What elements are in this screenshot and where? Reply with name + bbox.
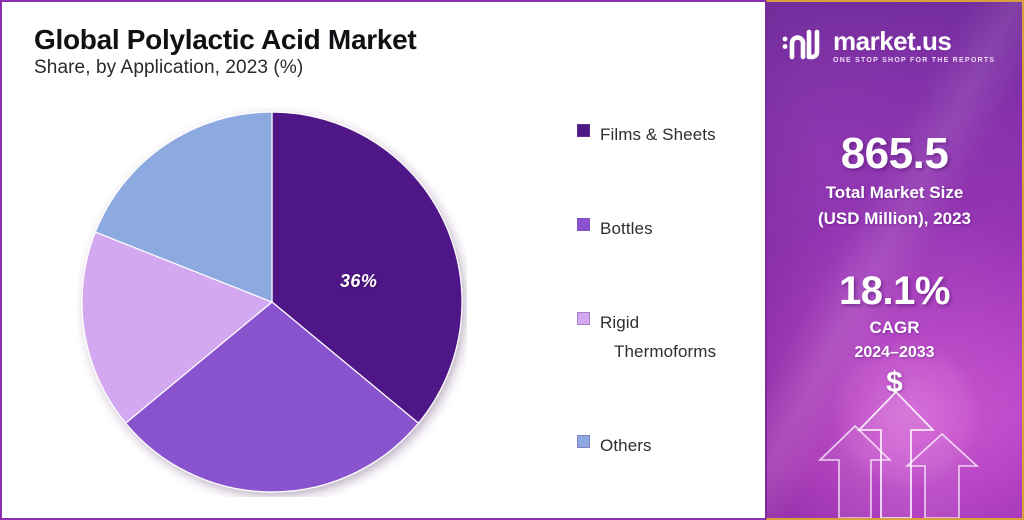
pie-chart: 36% <box>77 107 467 497</box>
arrow-left <box>820 426 890 518</box>
infographic-root: Global Polylactic Acid Market Share, by … <box>0 0 1024 520</box>
page-title: Global Polylactic Acid Market <box>34 24 416 55</box>
legend-swatch-icon <box>577 312 590 325</box>
legend-item-label-line2: Thermoforms <box>600 337 716 367</box>
cagr-value: 18.1% <box>767 270 1022 313</box>
legend-swatch-icon <box>577 435 590 448</box>
legend-swatch-icon <box>577 218 590 231</box>
legend-swatch-icon <box>577 124 590 137</box>
legend-item-label: Others <box>600 431 652 461</box>
market-size-caption-line2: (USD Million), 2023 <box>767 208 1022 230</box>
market-us-logo-icon <box>781 26 825 65</box>
brand-text-group: market.us ONE STOP SHOP FOR THE REPORTS <box>833 28 995 64</box>
chart-panel: Global Polylactic Acid Market Share, by … <box>0 0 766 520</box>
chart-heading-group: Global Polylactic Acid Market Share, by … <box>34 24 416 79</box>
legend-item-others[interactable]: Others <box>577 431 757 461</box>
cagr-stat: 18.1% CAGR 2024–2033 <box>767 270 1022 364</box>
legend-item-rigid-thermoforms[interactable]: Rigid Thermoforms <box>577 308 757 368</box>
pie-chart-svg <box>77 107 467 497</box>
cagr-caption-line1: CAGR <box>767 317 1022 339</box>
brand-name: market.us <box>833 26 951 56</box>
legend-item-label: Rigid Thermoforms <box>600 308 716 368</box>
legend-item-bottles[interactable]: Bottles <box>577 214 757 244</box>
market-size-value: 865.5 <box>767 130 1022 178</box>
legend-item-label: Films & Sheets <box>600 120 716 150</box>
logo-mark-svg <box>781 26 825 60</box>
pie-slice-data-label: 36% <box>340 271 377 292</box>
arrow-right <box>907 434 977 518</box>
market-size-caption-line1: Total Market Size <box>767 182 1022 204</box>
brand-logo[interactable]: market.us ONE STOP SHOP FOR THE REPORTS <box>781 26 1012 65</box>
legend-item-films-and-sheets[interactable]: Films & Sheets <box>577 120 757 150</box>
legend-item-label: Bottles <box>600 214 653 244</box>
page-subtitle: Share, by Application, 2023 (%) <box>34 57 416 79</box>
legend-item-label-line1: Rigid <box>600 313 639 332</box>
stats-panel: market.us ONE STOP SHOP FOR THE REPORTS … <box>766 0 1024 520</box>
market-size-stat: 865.5 Total Market Size (USD Million), 2… <box>767 130 1022 230</box>
brand-tagline: ONE STOP SHOP FOR THE REPORTS <box>833 57 995 64</box>
growth-arrows-icon <box>767 368 1024 518</box>
chart-legend: Films & Sheets Bottles Rigid Thermoforms… <box>577 120 757 461</box>
cagr-caption-line2: 2024–2033 <box>767 343 1022 364</box>
